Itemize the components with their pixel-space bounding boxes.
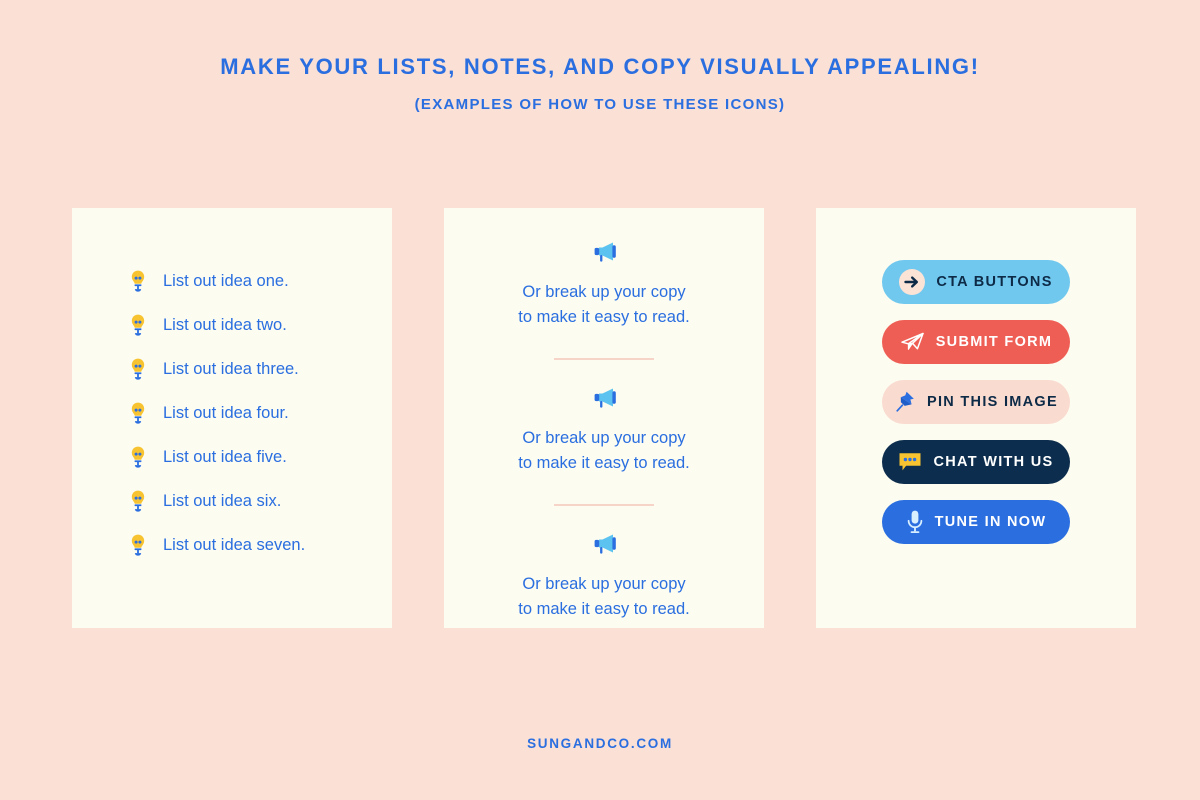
list-item-label: List out idea six. <box>163 490 281 512</box>
list-item: List out idea three. <box>130 358 305 380</box>
lightbulb-icon <box>130 270 146 292</box>
footer-website[interactable]: sungandco.com <box>0 736 1200 751</box>
submit-form-button[interactable]: Submit Form <box>882 320 1070 364</box>
list-item-label: List out idea one. <box>163 270 289 292</box>
paper-plane-icon <box>900 332 925 352</box>
divider <box>554 358 654 360</box>
pushpin-icon <box>894 390 916 414</box>
tune-in-now-button[interactable]: Tune In Now <box>882 500 1070 544</box>
copy-block: Or break up your copy to make it easy to… <box>444 532 764 622</box>
speech-bubble-icon <box>898 451 922 473</box>
lightbulb-icon <box>130 490 146 512</box>
cta-buttons-label: CTA Buttons <box>936 274 1052 290</box>
cta-examples-card: CTA Buttons Submit Form Pin This Image <box>816 208 1136 628</box>
idea-list: List out idea one. List out idea two. <box>130 270 305 556</box>
microphone-icon <box>906 509 924 535</box>
list-item: List out idea four. <box>130 402 305 424</box>
copy-block: Or break up your copy to make it easy to… <box>444 386 764 476</box>
chat-with-us-label: Chat With Us <box>933 454 1053 470</box>
pin-this-image-button[interactable]: Pin This Image <box>882 380 1070 424</box>
chat-with-us-button[interactable]: Chat With Us <box>882 440 1070 484</box>
list-item-label: List out idea seven. <box>163 534 305 556</box>
list-item: List out idea seven. <box>130 534 305 556</box>
cta-buttons-button[interactable]: CTA Buttons <box>882 260 1070 304</box>
list-item: List out idea six. <box>130 490 305 512</box>
tune-in-now-label: Tune In Now <box>935 514 1047 530</box>
megaphone-icon <box>589 386 619 412</box>
page-title: Make your lists, notes, and copy visuall… <box>0 54 1200 80</box>
copy-block-group: Or break up your copy to make it easy to… <box>444 240 764 622</box>
list-item-label: List out idea two. <box>163 314 287 336</box>
list-item-label: List out idea three. <box>163 358 299 380</box>
list-item-label: List out idea four. <box>163 402 289 424</box>
divider <box>554 504 654 506</box>
submit-form-label: Submit Form <box>936 334 1053 350</box>
lightbulb-icon <box>130 402 146 424</box>
list-item: List out idea two. <box>130 314 305 336</box>
copy-examples-card: Or break up your copy to make it easy to… <box>444 208 764 628</box>
copy-block: Or break up your copy to make it easy to… <box>444 240 764 330</box>
cta-button-stack: CTA Buttons Submit Form Pin This Image <box>816 260 1136 544</box>
list-item-label: List out idea five. <box>163 446 287 468</box>
megaphone-icon <box>589 532 619 558</box>
page-header: Make your lists, notes, and copy visuall… <box>0 54 1200 113</box>
list-item: List out idea five. <box>130 446 305 468</box>
copy-text: Or break up your copy to make it easy to… <box>444 572 764 622</box>
lightbulb-icon <box>130 446 146 468</box>
copy-text: Or break up your copy to make it easy to… <box>444 426 764 476</box>
list-item: List out idea one. <box>130 270 305 292</box>
lightbulb-icon <box>130 358 146 380</box>
copy-text: Or break up your copy to make it easy to… <box>444 280 764 330</box>
megaphone-icon <box>589 240 619 266</box>
pin-this-image-label: Pin This Image <box>927 394 1058 410</box>
list-examples-card: List out idea one. List out idea two. <box>72 208 392 628</box>
page-subtitle: (Examples of how to use these icons) <box>0 96 1200 113</box>
lightbulb-icon <box>130 314 146 336</box>
arrow-right-circle-icon <box>899 269 925 295</box>
lightbulb-icon <box>130 534 146 556</box>
